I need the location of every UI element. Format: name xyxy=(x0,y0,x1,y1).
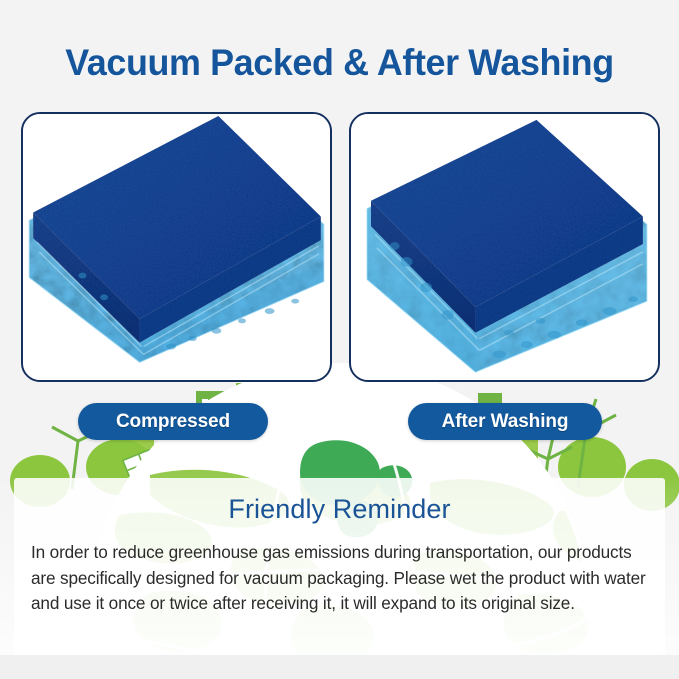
friendly-reminder-panel: Friendly Reminder In order to reduce gre… xyxy=(14,478,665,655)
page-title: Vacuum Packed & After Washing xyxy=(10,42,669,84)
label-compressed: Compressed xyxy=(78,403,268,440)
compressed-sponge-photo xyxy=(21,112,332,382)
reminder-body-text: In order to reduce greenhouse gas emissi… xyxy=(31,540,653,617)
bottom-strip xyxy=(0,655,679,679)
reminder-heading: Friendly Reminder xyxy=(14,494,665,525)
label-after-washing: After Washing xyxy=(408,403,602,440)
infographic-page: Vacuum Packed & After Washing xyxy=(0,0,679,679)
after-washing-sponge-photo xyxy=(349,112,660,382)
